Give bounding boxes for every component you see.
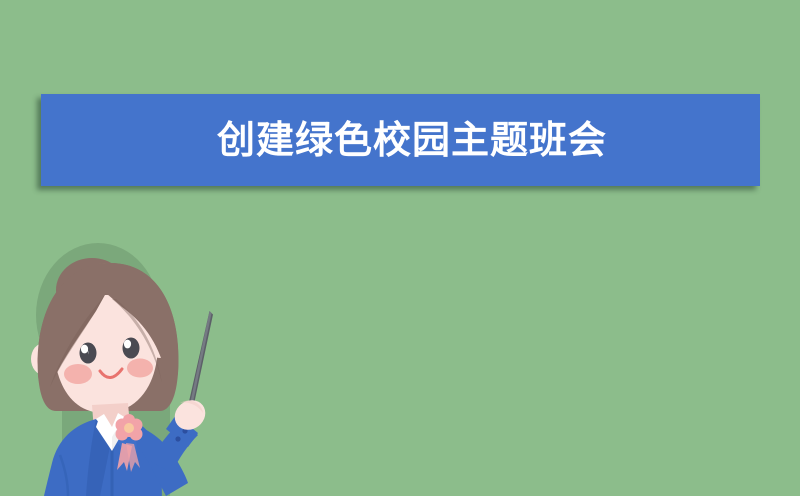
slide-canvas: 创建绿色校园主题班会: [0, 0, 800, 496]
teacher-illustration: [0, 215, 240, 496]
eye-right: [123, 338, 140, 359]
blush-right: [127, 359, 153, 378]
eye-left: [80, 343, 97, 364]
blush-left: [64, 364, 92, 384]
page-title: 创建绿色校园主题班会: [217, 121, 607, 159]
title-banner: 创建绿色校园主题班会: [41, 94, 760, 186]
